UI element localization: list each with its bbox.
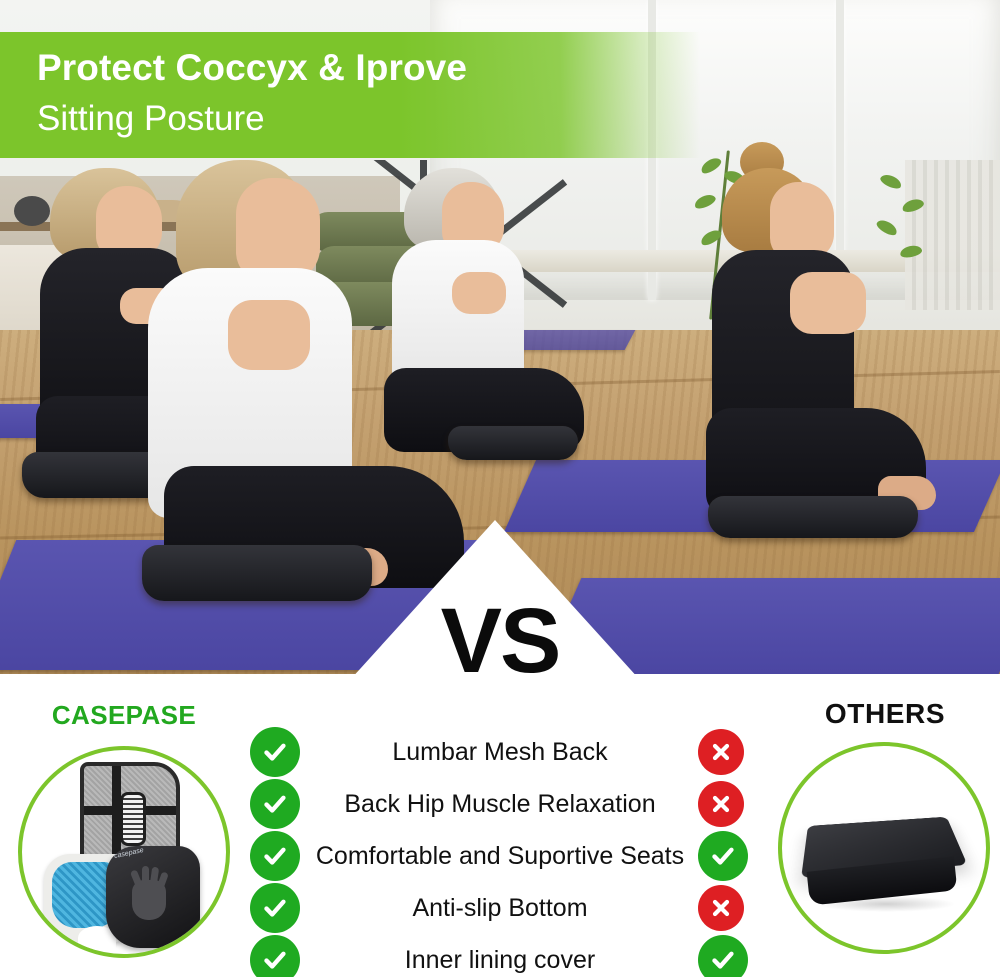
- radiator: [905, 160, 1000, 310]
- check-icon: [698, 935, 748, 977]
- feature-rows: Lumbar Mesh BackBack Hip Muscle Relaxati…: [0, 726, 1000, 977]
- cross-icon: [698, 885, 744, 931]
- feature-label: Anti-slip Bottom: [300, 882, 700, 934]
- feature-row: Back Hip Muscle Relaxation: [0, 778, 1000, 830]
- feature-row: Anti-slip Bottom: [0, 882, 1000, 934]
- check-icon: [250, 831, 300, 881]
- ball-prop: [14, 196, 50, 226]
- feature-row: Lumbar Mesh Back: [0, 726, 1000, 778]
- check-icon: [250, 727, 300, 777]
- feature-label: Inner lining cover: [300, 934, 700, 977]
- feature-label: Comfortable and Suportive Seats: [300, 830, 700, 882]
- headline-line-2: Sitting Posture: [37, 99, 265, 139]
- feature-label: Lumbar Mesh Back: [300, 726, 700, 778]
- product-infographic: Protect Coccyx & Iprove Sitting Posture …: [0, 0, 1000, 977]
- cross-icon: [698, 729, 744, 775]
- check-icon: [250, 779, 300, 829]
- check-icon: [250, 935, 300, 977]
- check-icon: [250, 883, 300, 933]
- headline-line-1: Protect Coccyx & Iprove: [37, 47, 467, 89]
- feature-label: Back Hip Muscle Relaxation: [300, 778, 700, 830]
- feature-row: Comfortable and Suportive Seats: [0, 830, 1000, 882]
- feature-row: Inner lining cover: [0, 934, 1000, 977]
- check-icon: [698, 831, 748, 881]
- cross-icon: [698, 781, 744, 827]
